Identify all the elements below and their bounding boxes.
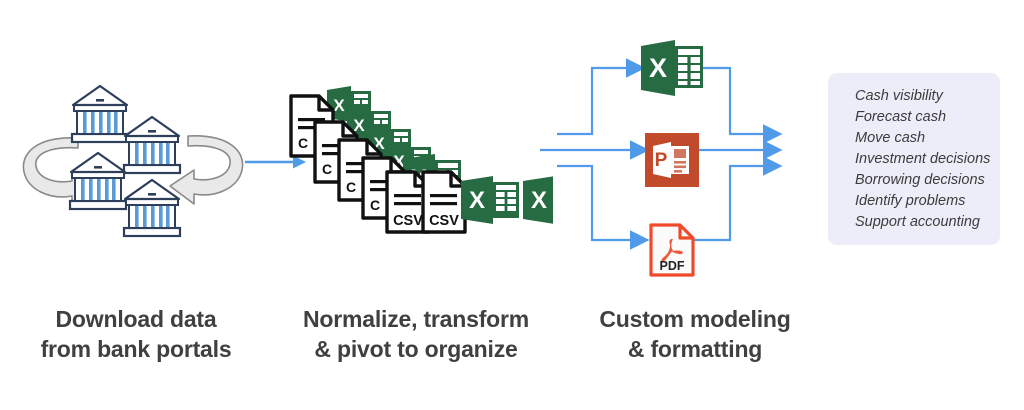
stage-caption-normalize: Normalize, transform & pivot to organize xyxy=(282,305,550,365)
svg-text:P: P xyxy=(655,150,668,171)
bank-icon xyxy=(72,86,128,142)
csv-file-icon: CSV xyxy=(423,172,465,232)
list-item: Identify problems xyxy=(855,191,1000,212)
list-item: Forecast cash xyxy=(855,107,1000,128)
caption-line-2: & formatting xyxy=(570,335,820,365)
list-item: Borrowing decisions xyxy=(855,170,1000,191)
excel-icon: X xyxy=(641,40,705,96)
bank-icon xyxy=(124,117,180,173)
list-item: Support accounting xyxy=(855,212,1000,233)
list-item: Investment decisions xyxy=(855,149,1000,170)
stage-caption-download: Download data from bank portals xyxy=(16,305,256,365)
svg-text:C: C xyxy=(322,161,332,177)
outcomes-list: Cash visibility Forecast cash Move cash … xyxy=(855,86,1000,233)
caption-line-1: Custom modeling xyxy=(599,306,790,332)
svg-text:CSV: CSV xyxy=(429,213,459,229)
caption-line-1: Normalize, transform xyxy=(303,306,529,332)
caption-line-2: from bank portals xyxy=(16,335,256,365)
svg-text:CSV: CSV xyxy=(393,213,423,229)
bank-icon xyxy=(70,153,126,209)
svg-text:C: C xyxy=(298,135,308,151)
excel-icon-large xyxy=(461,176,519,224)
powerpoint-icon: P xyxy=(645,133,699,187)
pdf-icon: PDF xyxy=(648,222,696,278)
file-cascade-group: X X xyxy=(285,58,553,244)
list-item: Move cash xyxy=(855,128,1000,149)
caption-line-1: Download data xyxy=(56,306,217,332)
svg-text:PDF: PDF xyxy=(660,259,685,273)
bank-portals-group xyxy=(18,78,248,243)
svg-text:C: C xyxy=(370,197,380,213)
svg-text:C: C xyxy=(346,179,356,195)
outcomes-panel: Cash visibility Forecast cash Move cash … xyxy=(828,73,1000,245)
list-item: Cash visibility xyxy=(855,86,1000,107)
bank-icon xyxy=(124,180,180,236)
workflow-diagram: X X xyxy=(0,0,1024,410)
svg-text:X: X xyxy=(649,53,667,83)
stage-caption-model: Custom modeling & formatting xyxy=(570,305,820,365)
caption-line-2: & pivot to organize xyxy=(282,335,550,365)
